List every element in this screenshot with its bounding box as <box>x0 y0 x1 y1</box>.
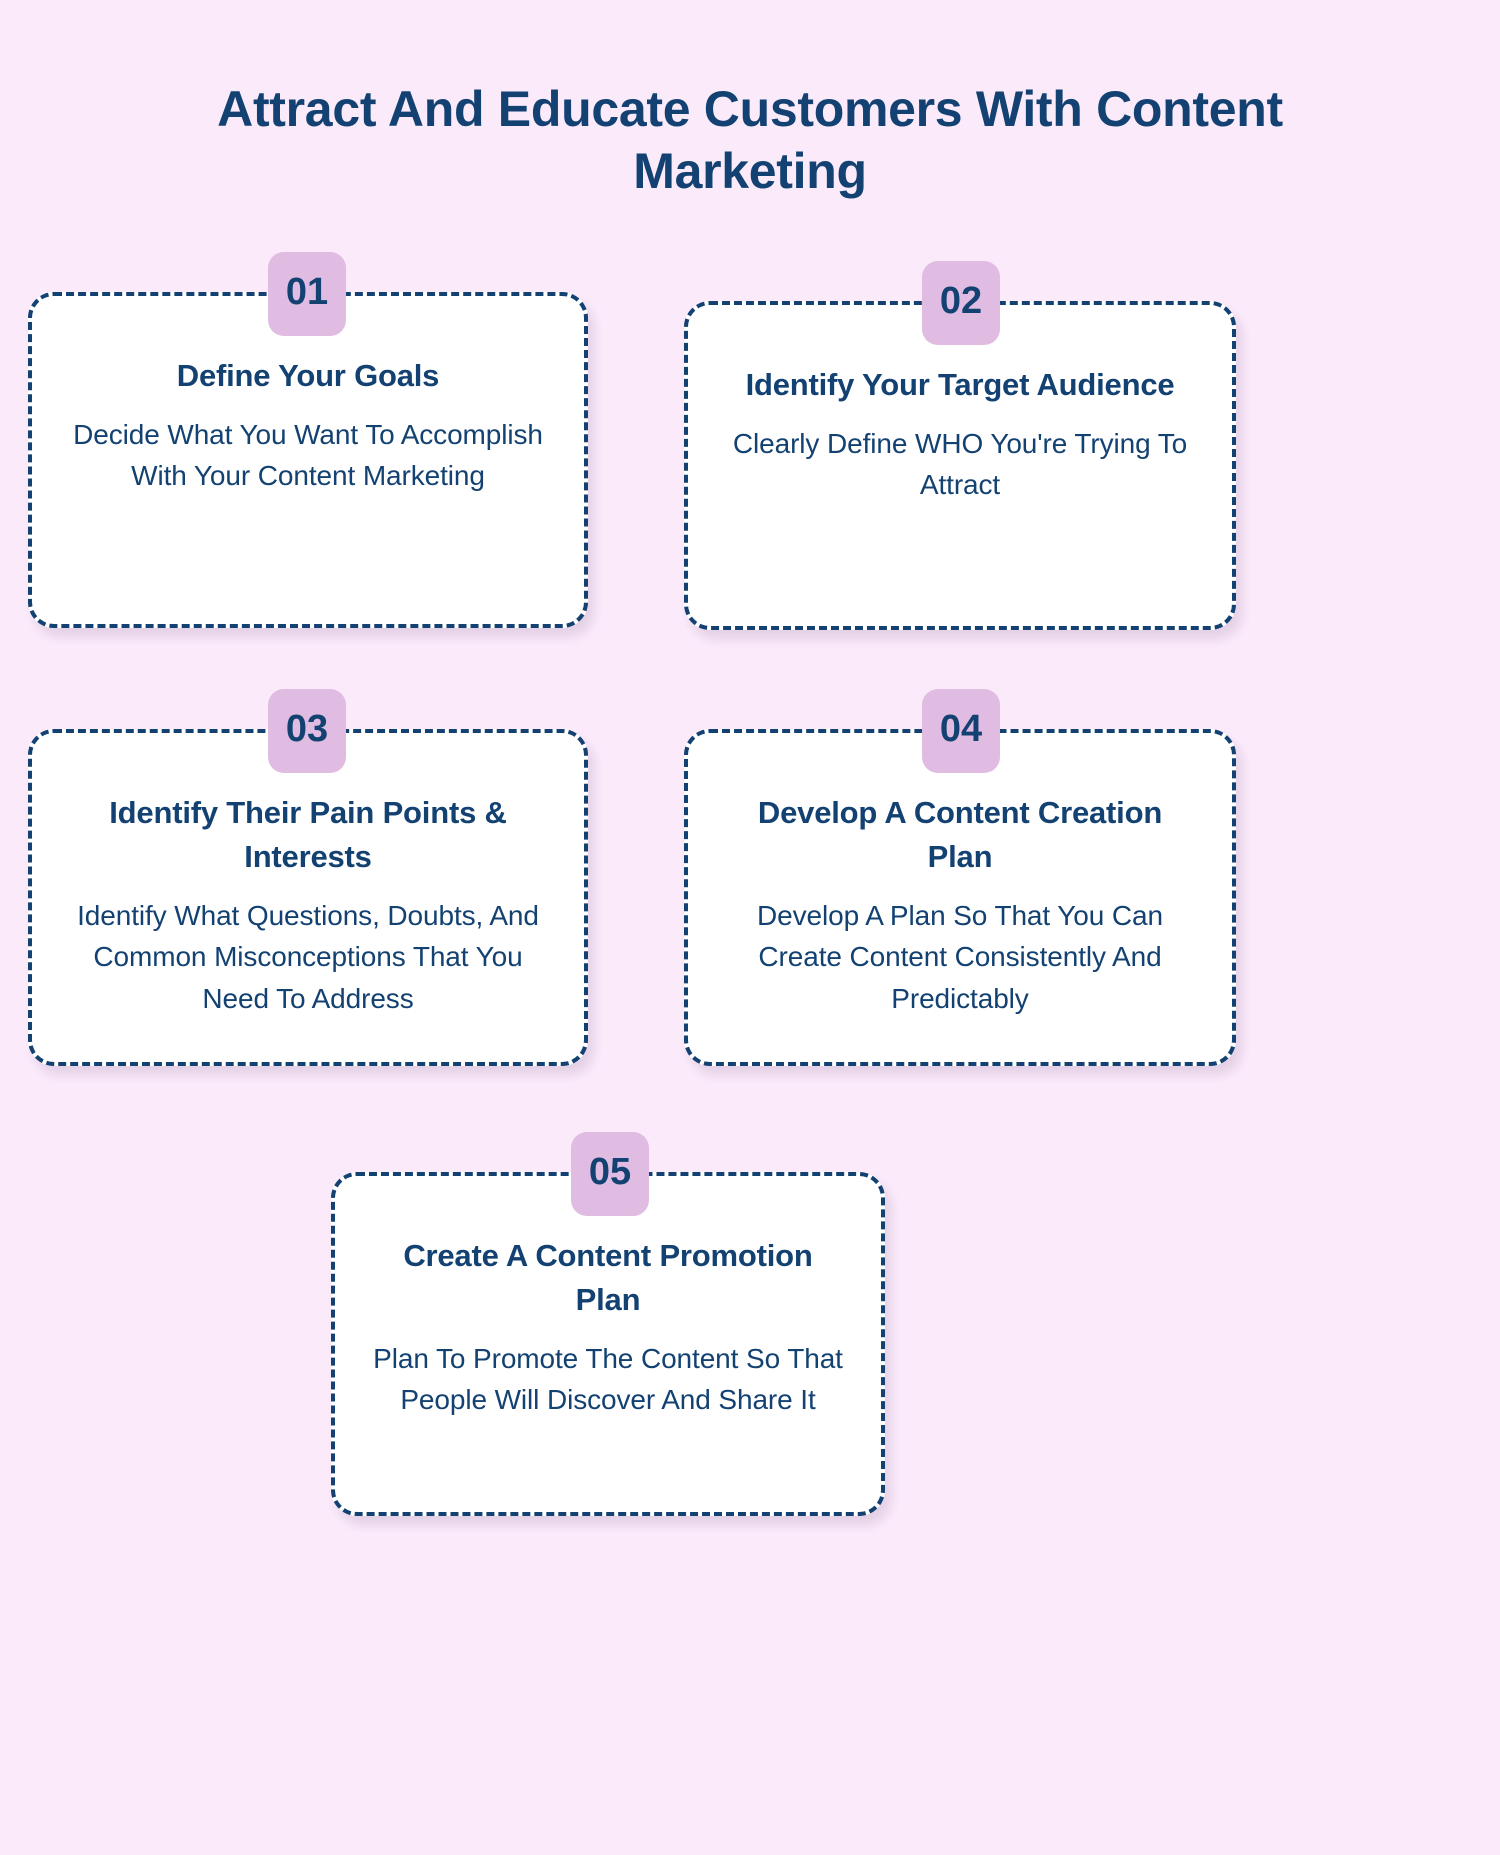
step-card-body-05: Create A Content Promotion Plan Plan To … <box>335 1176 881 1451</box>
step-card-04: Develop A Content Creation Plan Develop … <box>684 729 1236 1066</box>
step-number-badge-05: 05 <box>571 1132 649 1216</box>
step-title-04: Develop A Content Creation Plan <box>722 791 1198 879</box>
step-title-05: Create A Content Promotion Plan <box>369 1234 847 1322</box>
step-number-badge-03: 03 <box>268 689 346 773</box>
step-title-03: Identify Their Pain Points & Interests <box>66 791 550 879</box>
step-description-02: Clearly Define WHO You're Trying To Attr… <box>722 423 1198 506</box>
step-card-01: Define Your Goals Decide What You Want T… <box>28 292 588 628</box>
step-card-03: Identify Their Pain Points & Interests I… <box>28 729 588 1066</box>
step-description-04: Develop A Plan So That You Can Create Co… <box>722 895 1198 1019</box>
step-description-03: Identify What Questions, Doubts, And Com… <box>66 895 550 1019</box>
step-card-05: Create A Content Promotion Plan Plan To … <box>331 1172 885 1516</box>
step-title-01: Define Your Goals <box>66 354 550 398</box>
step-card-body-04: Develop A Content Creation Plan Develop … <box>688 733 1232 1049</box>
step-card-02: Identify Your Target Audience Clearly De… <box>684 301 1236 630</box>
step-number-badge-04: 04 <box>922 689 1000 773</box>
step-description-01: Decide What You Want To Accomplish With … <box>66 414 550 497</box>
steps-grid: Define Your Goals Decide What You Want T… <box>0 0 1500 1855</box>
step-card-body-03: Identify Their Pain Points & Interests I… <box>32 733 584 1049</box>
step-number-badge-01: 01 <box>268 252 346 336</box>
step-number-badge-02: 02 <box>922 261 1000 345</box>
step-title-02: Identify Your Target Audience <box>722 363 1198 407</box>
step-description-05: Plan To Promote The Content So That Peop… <box>369 1338 847 1421</box>
